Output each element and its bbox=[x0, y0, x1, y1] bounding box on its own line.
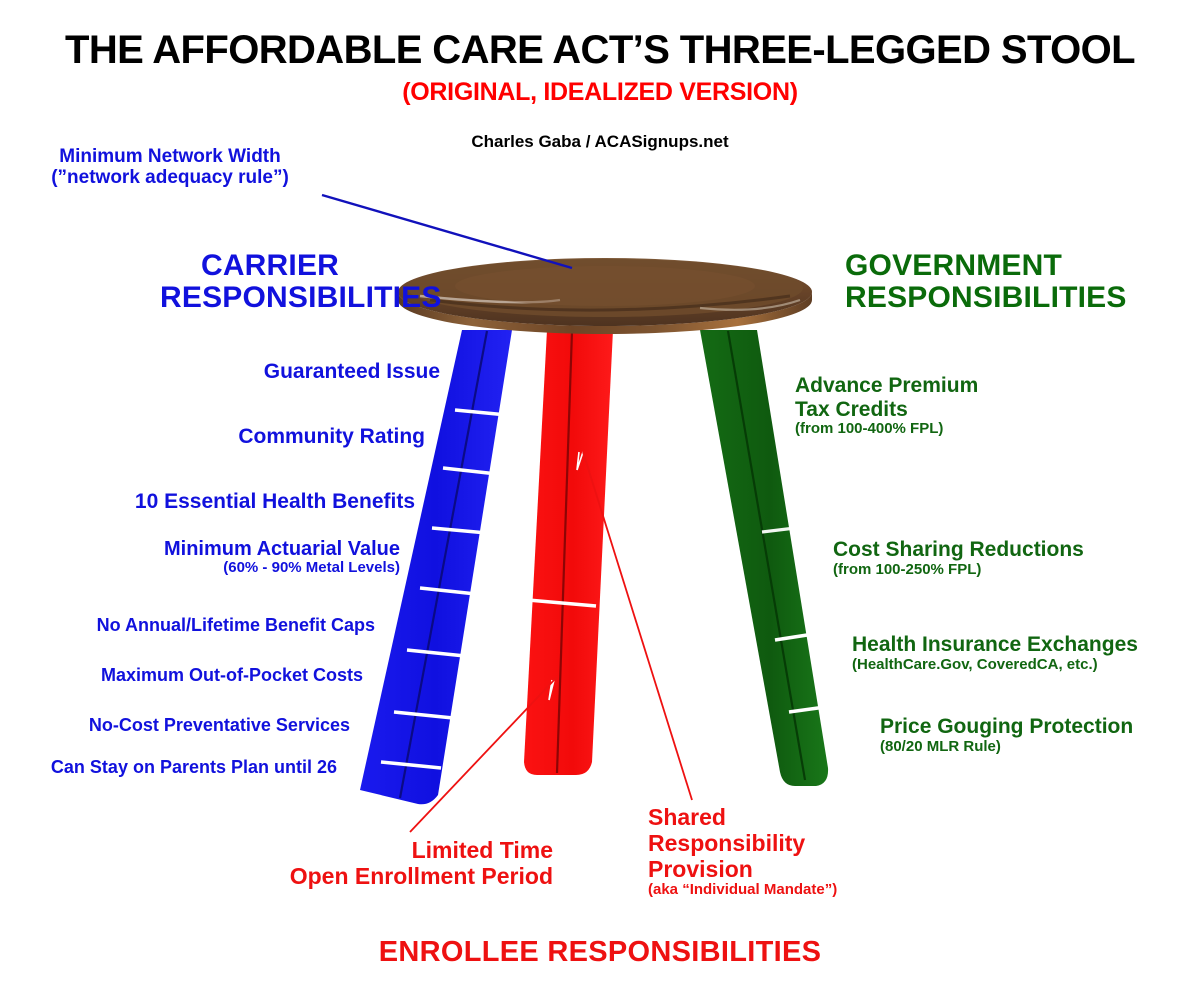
srp-line1: Shared bbox=[648, 804, 726, 830]
oep-line2: Open Enrollment Period bbox=[290, 863, 553, 889]
carrier-item-community-rating: Community Rating bbox=[95, 425, 425, 449]
actuarial-value-label: Minimum Actuarial Value bbox=[164, 538, 400, 560]
enrollee-item-shared-responsibility-provision: Shared Responsibility Provision (aka “In… bbox=[648, 805, 918, 899]
carrier-responsibilities-heading: CARRIER RESPONSIBILITIES bbox=[160, 250, 380, 314]
callout-minimum-network-width: Minimum Network Width (”network adequacy… bbox=[10, 146, 330, 189]
exchanges-sub: (HealthCare.Gov, CoveredCA, etc.) bbox=[852, 657, 1197, 674]
enrollee-responsibilities-heading: ENROLLEE RESPONSIBILITIES bbox=[0, 936, 1200, 969]
aptc-line2: Tax Credits bbox=[795, 398, 908, 421]
oep-line1: Limited Time bbox=[412, 837, 553, 863]
carrier-heading-line2: RESPONSIBILITIES bbox=[160, 281, 442, 314]
gouging-label: Price Gouging Protection bbox=[880, 715, 1133, 738]
aptc-line1: Advance Premium bbox=[795, 374, 978, 397]
government-heading-line1: GOVERNMENT bbox=[845, 249, 1062, 282]
infographic-canvas: THE AFFORDABLE CARE ACT’S THREE-LEGGED S… bbox=[0, 0, 1200, 1000]
government-item-health-insurance-exchanges: Health Insurance Exchanges (HealthCare.G… bbox=[852, 633, 1197, 673]
csr-sub: (from 100-250% FPL) bbox=[833, 562, 1163, 579]
page-subtitle: (ORIGINAL, IDEALIZED VERSION) bbox=[0, 78, 1200, 107]
government-item-price-gouging-protection: Price Gouging Protection (80/20 MLR Rule… bbox=[880, 715, 1190, 755]
carrier-item-benefit-caps: No Annual/Lifetime Benefit Caps bbox=[20, 615, 375, 635]
government-responsibilities-heading: GOVERNMENT RESPONSIBILITIES bbox=[845, 250, 1175, 314]
page-title: THE AFFORDABLE CARE ACT’S THREE-LEGGED S… bbox=[0, 28, 1200, 73]
network-callout-line1: Minimum Network Width bbox=[59, 146, 281, 167]
gouging-sub: (80/20 MLR Rule) bbox=[880, 739, 1190, 756]
network-callout-line2: (”network adequacy rule”) bbox=[51, 167, 289, 188]
aptc-sub: (from 100-400% FPL) bbox=[795, 421, 1095, 438]
srp-line2: Responsibility bbox=[648, 830, 805, 856]
carrier-item-preventative-services: No-Cost Preventative Services bbox=[10, 715, 350, 735]
government-item-advance-premium-tax-credits: Advance Premium Tax Credits (from 100-40… bbox=[795, 374, 1095, 438]
enrollee-leg bbox=[524, 330, 613, 775]
srp-line3: Provision bbox=[648, 856, 753, 882]
carrier-heading-line1: CARRIER bbox=[201, 249, 339, 282]
carrier-item-guaranteed-issue: Guaranteed Issue bbox=[95, 360, 440, 384]
csr-label: Cost Sharing Reductions bbox=[833, 538, 1084, 561]
enrollee-item-open-enrollment-period: Limited Time Open Enrollment Period bbox=[178, 838, 553, 890]
government-heading-line2: RESPONSIBILITIES bbox=[845, 281, 1127, 314]
srp-sub: (aka “Individual Mandate”) bbox=[648, 882, 918, 899]
exchanges-label: Health Insurance Exchanges bbox=[852, 633, 1138, 656]
actuarial-value-sub: (60% - 90% Metal Levels) bbox=[40, 560, 400, 577]
carrier-item-minimum-actuarial-value: Minimum Actuarial Value (60% - 90% Metal… bbox=[40, 538, 400, 577]
government-item-cost-sharing-reductions: Cost Sharing Reductions (from 100-250% F… bbox=[833, 538, 1163, 578]
stool-seat bbox=[398, 258, 812, 334]
srp-callout-leader bbox=[583, 452, 692, 800]
carrier-item-max-out-of-pocket: Maximum Out-of-Pocket Costs bbox=[20, 665, 363, 685]
carrier-item-parents-plan-26: Can Stay on Parents Plan until 26 bbox=[0, 757, 337, 777]
carrier-item-essential-health-benefits: 10 Essential Health Benefits bbox=[40, 490, 415, 514]
